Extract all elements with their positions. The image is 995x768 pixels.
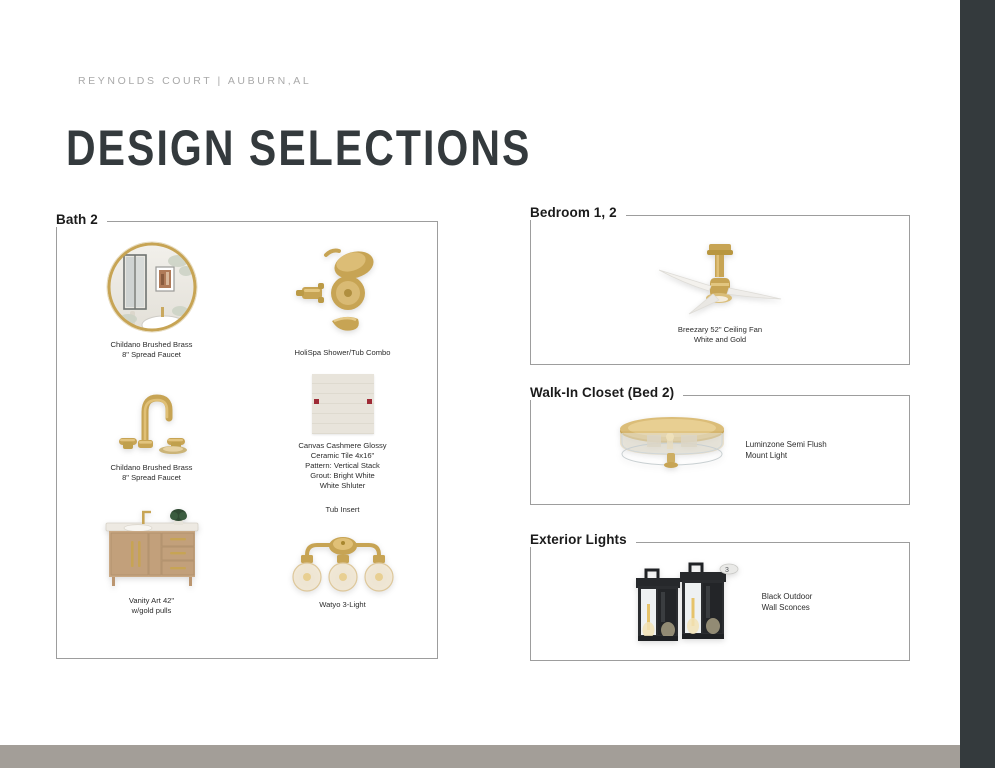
bulb-left bbox=[293, 555, 321, 591]
item-caption: HoliSpa Shower/Tub Combo bbox=[295, 348, 391, 358]
item-ceiling-fan: Breezary 52" Ceiling Fan White and Gold bbox=[645, 242, 795, 345]
widespread-faucet-icon bbox=[109, 382, 195, 456]
section-title-exterior: Exterior Lights bbox=[530, 532, 636, 547]
item-semi-flush-mount-light: Luminzone Semi Flush Mount Light bbox=[613, 413, 826, 487]
item-round-mirror: Childano Brushed Brass 8" Spread Faucet bbox=[106, 241, 198, 360]
page-title: DESIGN SELECTIONS bbox=[66, 121, 531, 175]
item-caption: Vanity Art 42" w/gold pulls bbox=[129, 596, 174, 616]
vanity-light-icon bbox=[285, 529, 401, 593]
project-location-eyebrow: REYNOLDS COURT | AUBURN,AL bbox=[78, 75, 311, 87]
round-mirror-icon bbox=[106, 241, 198, 333]
vanity-cabinet-icon bbox=[98, 503, 206, 589]
item-caption: Breezary 52" Ceiling Fan White and Gold bbox=[678, 325, 762, 345]
item-caption: Watyo 3-Light bbox=[319, 600, 366, 610]
sconce-left bbox=[636, 570, 680, 641]
item-wall-sconce-pair: 3 Black Outdoor Wall Sconces bbox=[628, 552, 813, 652]
ceiling-fan-icon bbox=[645, 242, 795, 318]
sconce-right: 3 bbox=[680, 564, 738, 639]
item-vanity-cabinet: Vanity Art 42" w/gold pulls bbox=[98, 503, 206, 616]
item-caption: Tub Insert bbox=[326, 505, 360, 515]
item-caption: Childano Brushed Brass 8" Spread Faucet bbox=[111, 463, 193, 483]
plant-decor bbox=[170, 509, 187, 525]
tile-marker-left bbox=[314, 399, 319, 404]
shower-tub-combo-icon bbox=[288, 241, 398, 341]
page-bottom-bar bbox=[0, 745, 960, 768]
bedroom-content: Breezary 52" Ceiling Fan White and Gold bbox=[530, 215, 910, 365]
viewer-right-panel bbox=[960, 0, 995, 768]
section-bath-2: Bath 2 bbox=[56, 212, 438, 659]
semi-flush-mount-light-icon bbox=[613, 413, 731, 487]
bulb-right bbox=[365, 555, 393, 591]
section-walk-in-closet: Walk-In Closet (Bed 2) bbox=[530, 385, 910, 505]
item-shower-tub-combo: HoliSpa Shower/Tub Combo bbox=[288, 241, 398, 358]
item-caption: Black Outdoor Wall Sconces bbox=[762, 591, 813, 613]
item-caption: Luminzone Semi Flush Mount Light bbox=[745, 439, 826, 461]
bath-2-column-left: Childano Brushed Brass 8" Spread Faucet bbox=[56, 221, 247, 659]
item-caption: Childano Brushed Brass 8" Spread Faucet bbox=[111, 340, 193, 360]
wall-sconce-pair-icon: 3 bbox=[628, 552, 748, 652]
section-title-bath-2: Bath 2 bbox=[56, 212, 107, 227]
item-ceramic-tile-swatch: Canvas Cashmere Glossy Ceramic Tile 4x16… bbox=[298, 374, 386, 491]
bath-2-item-grid: Childano Brushed Brass 8" Spread Faucet bbox=[56, 221, 438, 659]
section-title-bedroom: Bedroom 1, 2 bbox=[530, 205, 626, 220]
closet-content: Luminzone Semi Flush Mount Light bbox=[530, 395, 910, 505]
valve-handle bbox=[296, 283, 324, 303]
svg-text:3: 3 bbox=[725, 567, 729, 574]
section-title-closet: Walk-In Closet (Bed 2) bbox=[530, 385, 683, 400]
item-vanity-light: Watyo 3-Light bbox=[285, 529, 401, 610]
bath-2-column-right: HoliSpa Shower/Tub Combo Canvas Cashmere… bbox=[247, 221, 438, 659]
exterior-content: 3 Black Outdoor Wall Sconces bbox=[530, 542, 910, 661]
page-sheet: REYNOLDS COURT | AUBURN,AL DESIGN SELECT… bbox=[0, 0, 960, 745]
tile-marker-right bbox=[367, 399, 372, 404]
tile-swatch-icon bbox=[312, 374, 374, 434]
section-exterior-lights: Exterior Lights bbox=[530, 532, 910, 661]
item-tub-insert: Tub Insert bbox=[326, 505, 360, 515]
item-widespread-faucet: Childano Brushed Brass 8" Spread Faucet bbox=[109, 382, 195, 483]
section-bedroom-1-2: Bedroom 1, 2 Breezary 52" Ceiling F bbox=[530, 205, 910, 365]
item-caption: Canvas Cashmere Glossy Ceramic Tile 4x16… bbox=[298, 441, 386, 491]
bulb-center bbox=[329, 555, 357, 591]
